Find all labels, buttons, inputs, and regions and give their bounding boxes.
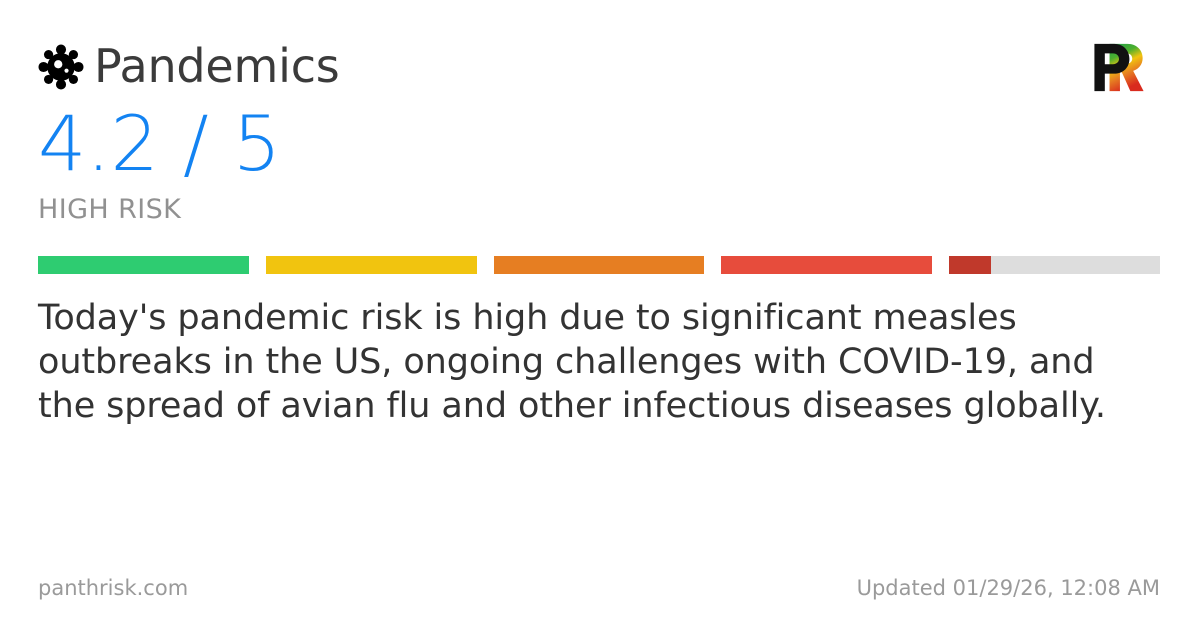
risk-segment-severe-fill [949,256,991,274]
risk-segment-severe [949,256,1160,274]
risk-segment-moderate-fill [266,256,477,274]
risk-segment-elevated-fill [494,256,705,274]
risk-segment-moderate [266,256,477,274]
risk-score-value: 4.2 / 5 [38,106,1160,182]
risk-level-label: HIGH RISK [38,194,1160,225]
risk-segment-high [721,256,932,274]
site-name: panthrisk.com [38,576,188,600]
risk-summary-card: Pandemics 4.2 / 5 HIGH RISK [0,0,1200,630]
updated-timestamp: Updated 01/29/26, 12:08 AM [857,576,1160,600]
risk-meter [38,256,1160,274]
risk-segment-low-fill [38,256,249,274]
risk-segment-elevated [494,256,705,274]
risk-segment-high-fill [721,256,932,274]
category-heading: Pandemics [38,42,340,90]
risk-summary-text: Today's pandemic risk is high due to sig… [38,296,1160,428]
card-footer: panthrisk.com Updated 01/29/26, 12:08 AM [38,576,1160,600]
panthrisk-pr-logo [1090,42,1148,94]
virus-icon [38,44,84,90]
risk-segment-low [38,256,249,274]
card-header: Pandemics [38,38,1160,94]
category-title: Pandemics [94,42,340,90]
